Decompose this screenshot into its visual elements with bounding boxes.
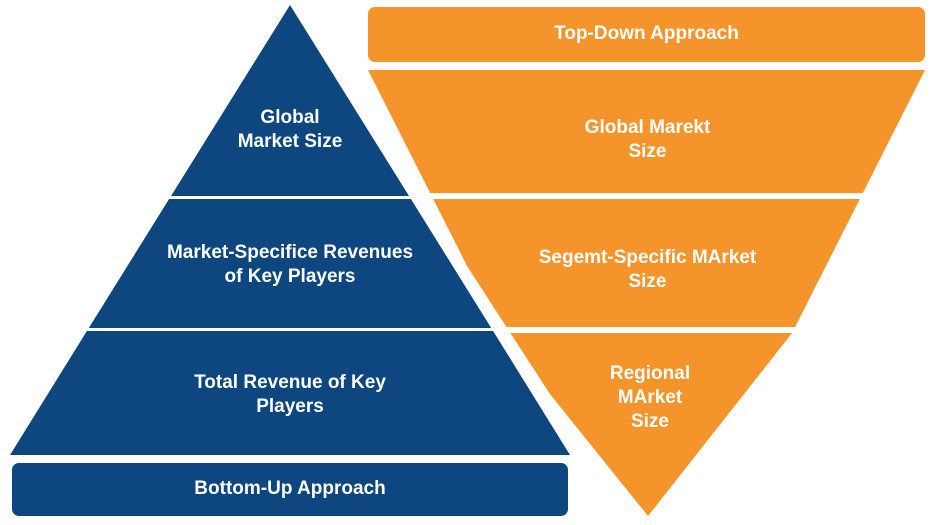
funnel-tier-2-shape[interactable]: [433, 199, 860, 327]
diagram-shapes-layer: [0, 0, 936, 525]
market-sizing-diagram: Global Market Size Market-Specifice Reve…: [0, 0, 936, 525]
top-down-approach-bar[interactable]: [368, 7, 925, 62]
pyramid-tier-3-shape[interactable]: [10, 331, 570, 455]
funnel-tier-1-shape[interactable]: [368, 70, 925, 193]
bottom-up-approach-bar[interactable]: [12, 463, 568, 516]
